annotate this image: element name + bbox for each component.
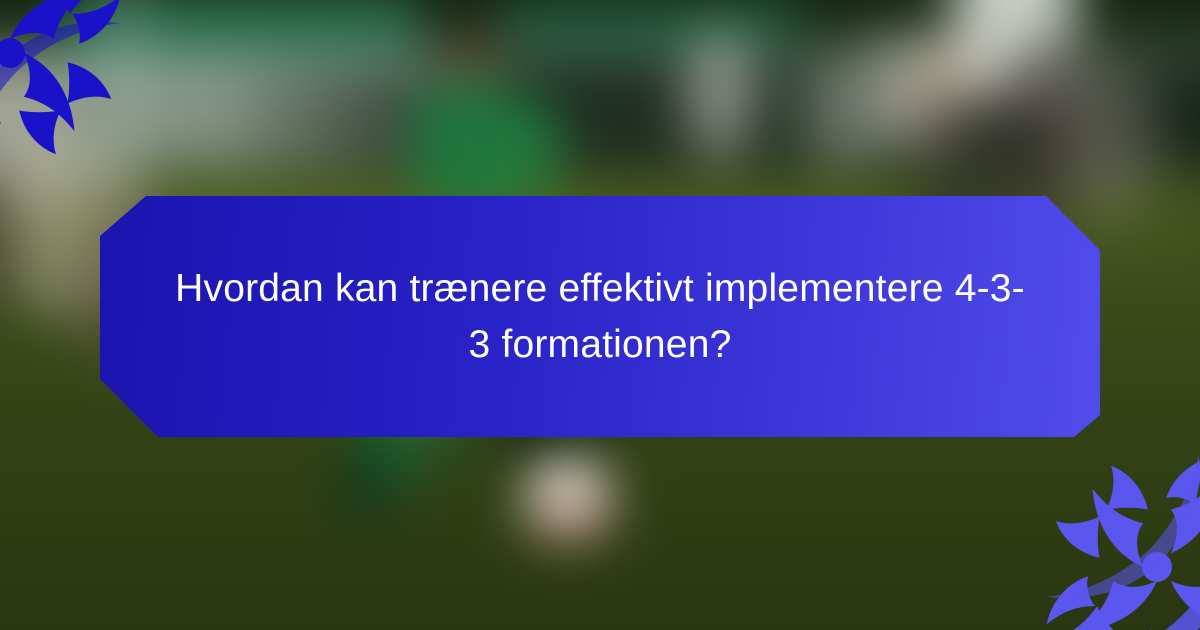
background-spectator-blob <box>685 30 755 160</box>
football-ball-patch <box>540 500 584 534</box>
background-player-torso <box>412 80 530 210</box>
background-spectator-blob <box>800 50 880 170</box>
background-goal-crossbar <box>0 60 460 72</box>
headline-banner: Hvordan kan trænere effektivt implemente… <box>100 196 1100 437</box>
social-card: Hvordan kan trænere effektivt implemente… <box>0 0 1200 630</box>
background-spectator-blob <box>1060 60 1160 220</box>
headline-text: Hvordan kan trænere effektivt implemente… <box>100 261 1100 373</box>
background-player-sock <box>345 440 391 520</box>
